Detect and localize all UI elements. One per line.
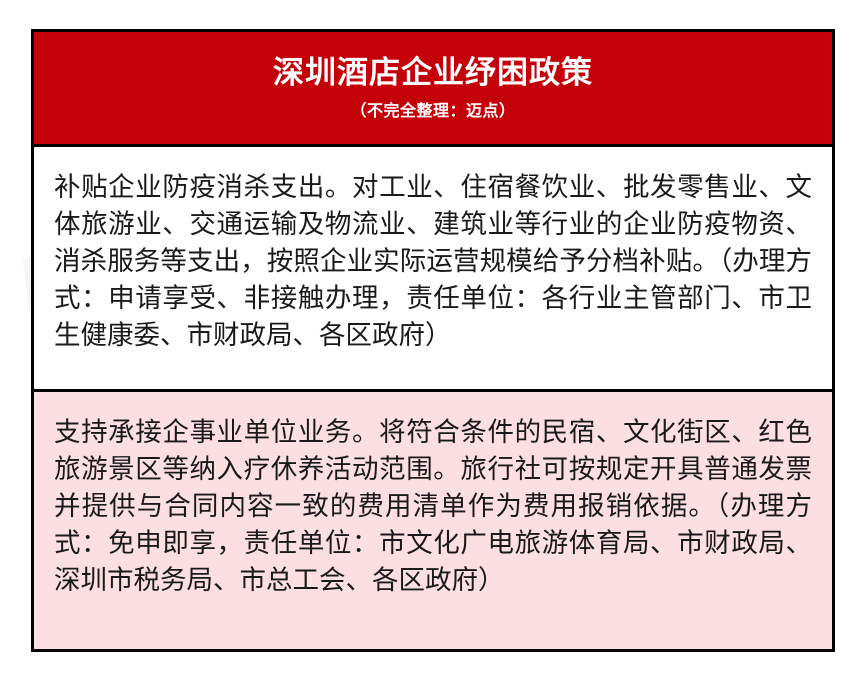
policy-row-2: 支持承接企事业单位业务。将符合条件的民宿、文化街区、红色旅游景区等纳入疗休养活动… (34, 392, 832, 649)
policy-row-1: 补贴企业防疫消杀支出。对工业、住宿餐饮业、批发零售业、文体旅游业、交通运输及物流… (34, 147, 832, 392)
policy-row-1-text: 补贴企业防疫消杀支出。对工业、住宿餐饮业、批发零售业、文体旅游业、交通运输及物流… (54, 169, 812, 354)
policy-table-card: 深圳酒店企业纾困政策 （不完全整理：迈点） 补贴企业防疫消杀支出。对工业、住宿餐… (31, 29, 835, 652)
page-subtitle: （不完全整理：迈点） (350, 97, 515, 121)
policy-row-2-text: 支持承接企事业单位业务。将符合条件的民宿、文化街区、红色旅游景区等纳入疗休养活动… (54, 414, 812, 599)
page-title: 深圳酒店企业纾困政策 (273, 55, 593, 91)
card-header: 深圳酒店企业纾困政策 （不完全整理：迈点） (34, 32, 832, 147)
